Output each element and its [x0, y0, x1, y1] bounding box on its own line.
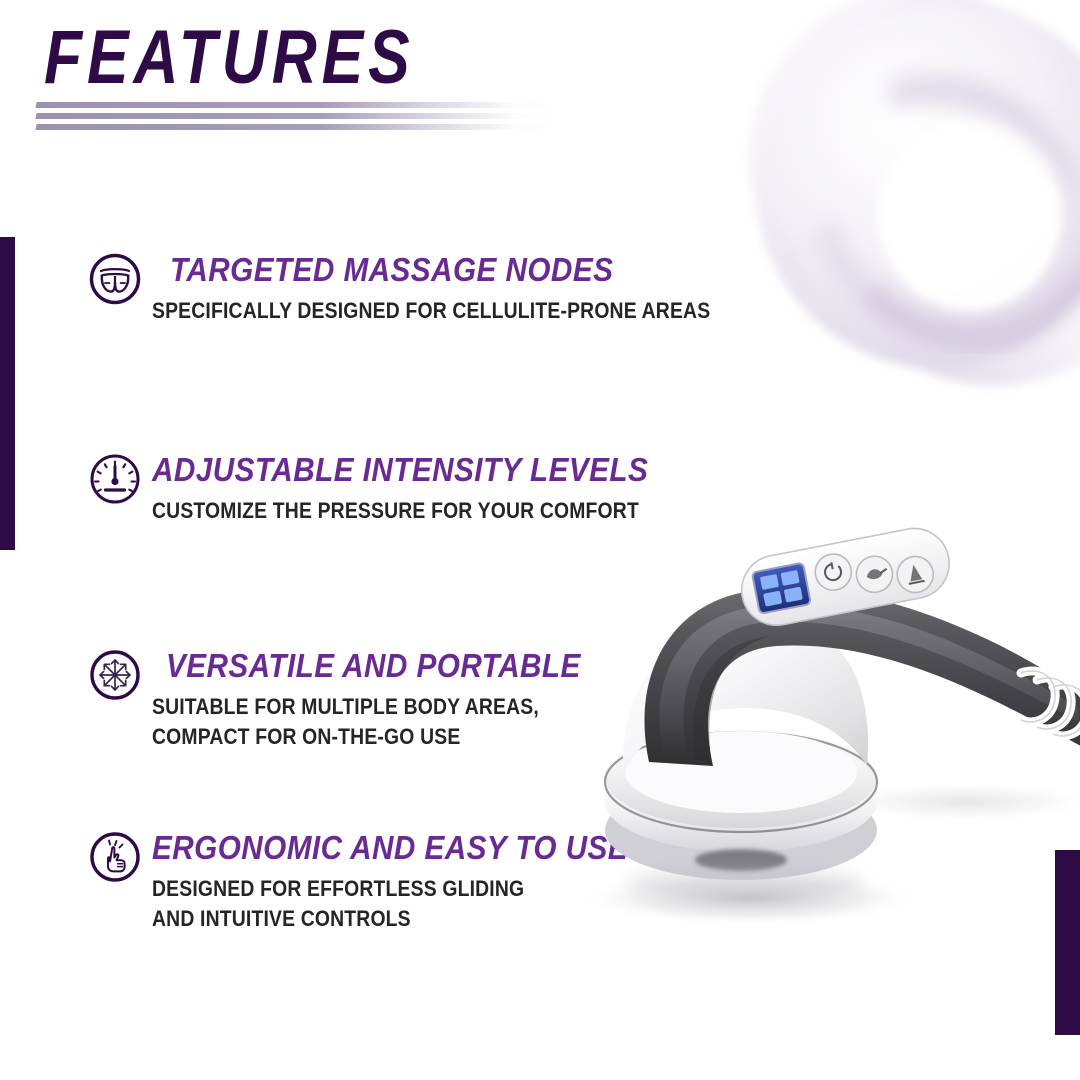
feature-subtitle-line: AND INTUITIVE CONTROLS [152, 905, 617, 933]
hand-tap-icon [88, 830, 142, 884]
title-underline-rules [36, 102, 556, 132]
feature-text-block: VERSATILE AND PORTABLE SUITABLE FOR MULT… [152, 648, 627, 751]
body-hips-icon [88, 252, 142, 306]
right-accent-bar [1055, 850, 1080, 1035]
infographic-canvas: FEATURES TARGETED MASSAGE NODES SPECIFIC… [0, 0, 1080, 1080]
feature-subtitle-line: SPECIFICALLY DESIGNED FOR CELLULITE-PRON… [152, 297, 710, 325]
abstract-swirl-graphic [720, 0, 1080, 420]
feature-heading: VERSATILE AND PORTABLE [166, 648, 581, 684]
page-title: FEATURES [44, 18, 415, 98]
gauge-icon [88, 452, 142, 506]
feature-subtitle-line: DESIGNED FOR EFFORTLESS GLIDING [152, 875, 617, 903]
feature-heading: ERGONOMIC AND EASY TO USE [152, 830, 628, 866]
feature-subtitle-line: SUITABLE FOR MULTIPLE BODY AREAS, [152, 693, 570, 721]
feature-heading: ADJUSTABLE INTENSITY LEVELS [152, 452, 650, 488]
rule-line-3 [35, 124, 556, 130]
rule-line-1 [35, 102, 556, 108]
feature-text-block: TARGETED MASSAGE NODES SPECIFICALLY DESI… [152, 252, 786, 325]
feature-item-ergonomic-and-easy-to-use: ERGONOMIC AND EASY TO USE DESIGNED FOR E… [88, 830, 681, 933]
feature-item-versatile-and-portable: VERSATILE AND PORTABLE SUITABLE FOR MULT… [88, 648, 627, 751]
feature-subtitle-line: COMPACT FOR ON-THE-GO USE [152, 723, 570, 751]
rule-line-2 [35, 113, 556, 119]
feature-item-targeted-massage-nodes: TARGETED MASSAGE NODES SPECIFICALLY DESI… [88, 252, 786, 325]
feature-text-block: ERGONOMIC AND EASY TO USE DESIGNED FOR E… [152, 830, 681, 933]
feature-subtitle-line: CUSTOMIZE THE PRESSURE FOR YOUR COMFORT [152, 497, 639, 525]
feature-heading: TARGETED MASSAGE NODES [170, 252, 725, 288]
feature-text-block: ADJUSTABLE INTENSITY LEVELS CUSTOMIZE TH… [152, 452, 705, 525]
left-accent-bar [0, 237, 15, 550]
multi-direction-arrows-icon [88, 648, 142, 702]
feature-item-adjustable-intensity-levels: ADJUSTABLE INTENSITY LEVELS CUSTOMIZE TH… [88, 452, 705, 525]
